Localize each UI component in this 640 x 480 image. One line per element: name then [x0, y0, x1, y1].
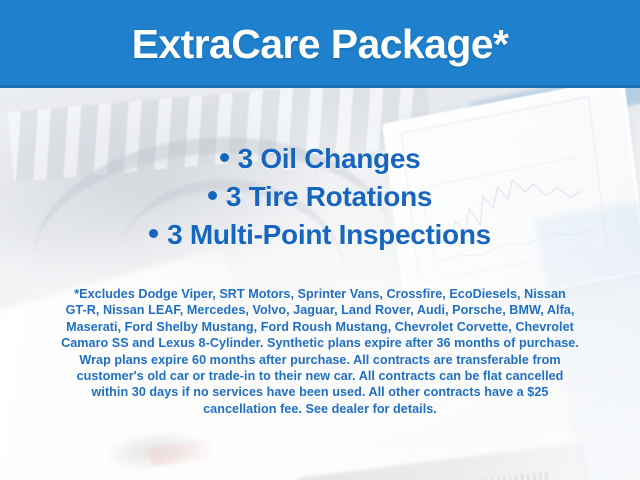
disclaimer-text: *Excludes Dodge Viper, SRT Motors, Sprin… [22, 286, 618, 417]
disclaimer-line: within 30 days if no services have been … [22, 384, 618, 400]
disclaimer-line: GT-R, Nissan LEAF, Mercedes, Volvo, Jagu… [22, 302, 618, 318]
list-item: 3 Tire Rotations [0, 178, 640, 216]
bullet-dot-icon [149, 229, 158, 238]
list-item: 3 Oil Changes [0, 140, 640, 178]
list-item: 3 Multi-Point Inspections [0, 216, 640, 254]
benefit-label: 3 Multi-Point Inspections [167, 219, 491, 250]
benefits-list: 3 Oil Changes 3 Tire Rotations 3 Multi-P… [0, 140, 640, 254]
bullet-dot-icon [208, 191, 217, 200]
header-band: ExtraCare Package* [0, 0, 640, 88]
benefit-label: 3 Tire Rotations [226, 181, 432, 212]
page-title: ExtraCare Package* [132, 24, 509, 65]
benefit-label: 3 Oil Changes [238, 143, 421, 174]
disclaimer-line: cancellation fee. See dealer for details… [22, 401, 618, 417]
disclaimer-line: customer's old car or trade-in to their … [22, 368, 618, 384]
extracare-package-promo: ExtraCare Package* 3 Oil Changes 3 Tire … [0, 0, 640, 480]
bullet-dot-icon [220, 153, 229, 162]
disclaimer-line: *Excludes Dodge Viper, SRT Motors, Sprin… [22, 286, 618, 302]
disclaimer-line: Wrap plans expire 60 months after purcha… [22, 352, 618, 368]
disclaimer-line: Camaro SS and Lexus 8-Cylinder. Syntheti… [22, 335, 618, 351]
disclaimer-line: Maserati, Ford Shelby Mustang, Ford Rous… [22, 319, 618, 335]
